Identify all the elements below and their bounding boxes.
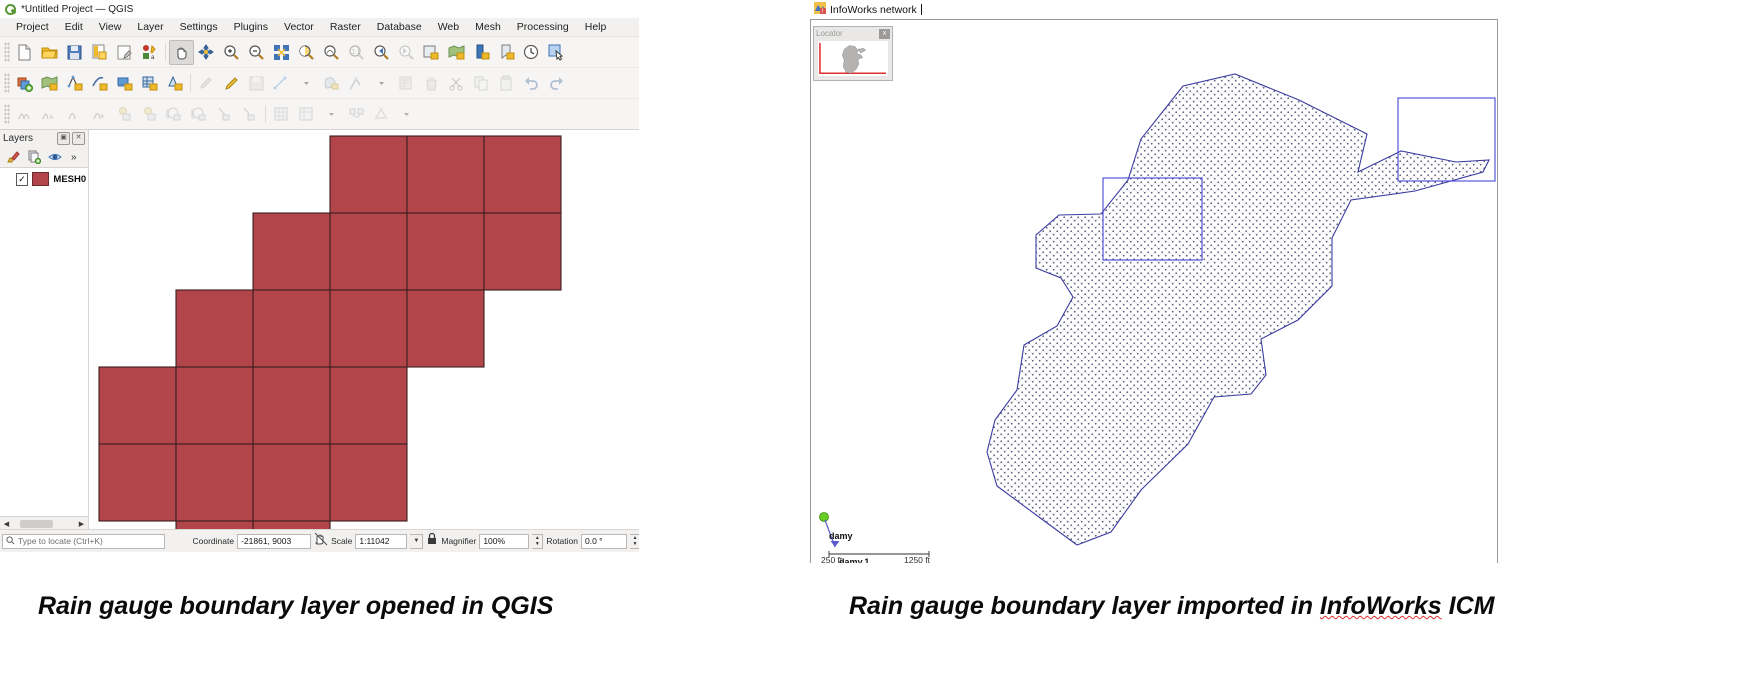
node-marker-damy[interactable] (820, 513, 829, 522)
pan-map-icon[interactable] (169, 40, 194, 65)
toolbar-dropdown-arrow-icon[interactable] (294, 71, 319, 96)
qgis-window-title: *Untitled Project — QGIS (21, 4, 133, 15)
icm-window-title: InfoWorks network (830, 4, 917, 16)
layers-panel-title: Layers (3, 133, 55, 144)
magnifier-label: Magnifier (441, 536, 476, 546)
svg-text:a: a (151, 55, 155, 61)
rotation-value[interactable]: 0.0 ° (581, 534, 627, 549)
layers-panel: Layers ▣ ✕ » ✓ MESH0! (0, 130, 89, 530)
rain-gauge-cell[interactable] (176, 367, 253, 444)
open-layer-styling-icon[interactable] (6, 150, 20, 164)
add-spatialite-icon[interactable] (137, 71, 162, 96)
menu-database[interactable]: Database (369, 20, 430, 34)
rain-gauge-cell[interactable] (484, 136, 561, 213)
add-delimited-text-icon[interactable] (87, 71, 112, 96)
menu-edit[interactable]: Edit (57, 20, 91, 34)
bookmarks-icon[interactable] (494, 40, 519, 65)
link-direction-arrow-icon (831, 541, 840, 547)
qgis-map-canvas[interactable] (89, 130, 639, 530)
add-polygon-feature-icon[interactable] (319, 71, 344, 96)
add-raster-layer-icon[interactable] (37, 71, 62, 96)
rain-gauge-polygon-grid (89, 130, 639, 530)
zoom-full-icon[interactable] (269, 40, 294, 65)
rain-gauge-cell[interactable] (330, 444, 407, 521)
rain-gauge-cell[interactable] (253, 444, 330, 521)
refresh-icon[interactable] (419, 40, 444, 65)
identify-icon[interactable] (544, 40, 569, 65)
field-calculator-icon[interactable] (294, 102, 319, 127)
toolbar-separator (190, 74, 191, 92)
rain-gauge-cell[interactable] (330, 290, 407, 367)
scale-label: Scale (331, 536, 352, 546)
temporal-controller-icon[interactable] (519, 40, 544, 65)
scalebar-right-label: 1250 ft (904, 555, 930, 563)
coordinate-value[interactable]: -21861, 9003 (237, 534, 311, 549)
svg-text:1:1: 1:1 (352, 49, 361, 55)
toolbar-dropdown-arrow-icon[interactable] (319, 102, 344, 127)
rain-gauge-cell[interactable] (330, 367, 407, 444)
magnifier-stepper[interactable]: ▲▼ (532, 534, 543, 549)
menu-view[interactable]: View (91, 20, 130, 34)
zoom-out-icon[interactable] (244, 40, 269, 65)
qgis-logo-icon (5, 4, 16, 15)
caption-right-suffix: ICM (1442, 592, 1495, 620)
toggle-extents-icon[interactable] (314, 532, 328, 551)
toolbar-grip[interactable] (4, 104, 10, 124)
caption-left: Rain gauge boundary layer opened in QGIS (38, 592, 553, 621)
measure-angle-icon[interactable] (62, 102, 87, 127)
close-panel-icon[interactable]: ✕ (72, 132, 85, 145)
lock-icon[interactable] (426, 532, 438, 550)
scroll-left-icon[interactable]: ◀ (0, 518, 13, 530)
new-project-icon[interactable] (12, 40, 37, 65)
caption-right: Rain gauge boundary layer imported in In… (849, 592, 1494, 621)
rotation-stepper[interactable]: ▲▼ (630, 534, 639, 549)
menu-layer[interactable]: Layer (129, 20, 171, 34)
scale-dropdown-icon[interactable]: ▼ (410, 534, 423, 549)
redo-icon[interactable] (544, 71, 569, 96)
locator-search-box[interactable]: Type to locate (Ctrl+K) (2, 534, 165, 549)
add-vector-layer-icon[interactable] (12, 71, 37, 96)
zoom-native-icon[interactable]: 1:1 (344, 40, 369, 65)
copy-features-icon[interactable] (469, 71, 494, 96)
menu-raster[interactable]: Raster (322, 20, 369, 34)
undo-icon[interactable] (519, 71, 544, 96)
mesh-tools-icon[interactable] (369, 102, 394, 127)
menu-settings[interactable]: Settings (172, 20, 226, 34)
qgis-titlebar: *Untitled Project — QGIS (0, 0, 639, 18)
rain-gauge-cell[interactable] (253, 290, 330, 367)
measure-area-icon[interactable] (37, 102, 62, 127)
scale-value[interactable]: 1:11042 (355, 534, 407, 549)
paste-features-icon[interactable] (494, 71, 519, 96)
rain-gauge-cell[interactable] (407, 213, 484, 290)
processing-toolbox-icon[interactable] (344, 102, 369, 127)
icm-titlebar: ! InfoWorks network (808, 0, 1518, 19)
select-by-expression-icon[interactable] (162, 102, 187, 127)
layers-list: ✓ MESH0! (0, 167, 88, 516)
modify-attributes-icon[interactable] (394, 71, 419, 96)
rain-gauge-cell[interactable] (253, 367, 330, 444)
rotation-label: Rotation (546, 536, 578, 546)
text-cursor (921, 4, 922, 15)
menu-project[interactable]: Project (8, 20, 57, 34)
search-icon (6, 532, 15, 550)
menu-vector[interactable]: Vector (276, 20, 322, 34)
add-wms-icon[interactable] (162, 71, 187, 96)
rain-gauge-cell[interactable] (484, 213, 561, 290)
select-features-icon[interactable] (112, 102, 137, 127)
scrollbar-thumb[interactable] (20, 520, 52, 528)
caption-right-misspelled-word: InfoWorks (1320, 592, 1442, 620)
node-label-damy-1: damy.1 (839, 557, 869, 563)
toolbar-dropdown-arrow-icon[interactable] (369, 71, 394, 96)
menu-web[interactable]: Web (430, 20, 467, 34)
layers-panel-more-button[interactable]: » (71, 152, 77, 163)
qgis-toolbar-row-3 (0, 99, 639, 130)
save-layer-edits-icon[interactable] (244, 71, 269, 96)
save-project-as-icon[interactable] (87, 40, 112, 65)
open-project-icon[interactable] (37, 40, 62, 65)
add-line-feature-icon[interactable] (269, 71, 294, 96)
deselect-all-icon[interactable] (237, 102, 262, 127)
vertex-tool-icon[interactable] (344, 71, 369, 96)
icm-document-area[interactable]: Locator x (810, 19, 1498, 563)
cut-features-icon[interactable] (444, 71, 469, 96)
magnifier-value[interactable]: 100% (479, 534, 529, 549)
menu-processing[interactable]: Processing (509, 20, 577, 34)
caption-right-prefix: Rain gauge boundary layer imported in (849, 592, 1320, 620)
zoom-last-icon[interactable] (369, 40, 394, 65)
new-3d-map-view-icon[interactable] (469, 40, 494, 65)
zoom-next-icon[interactable] (394, 40, 419, 65)
rain-gauge-cell[interactable] (176, 290, 253, 367)
save-project-icon[interactable] (62, 40, 87, 65)
layer-visibility-checkbox[interactable]: ✓ (16, 173, 28, 186)
node-label-damy: damy (829, 531, 853, 541)
open-attribute-table-icon[interactable] (269, 102, 294, 127)
qgis-window: *Untitled Project — QGIS Project Edit Vi… (0, 0, 639, 552)
rain-gauge-cell[interactable] (99, 367, 176, 444)
toolbar-grip[interactable] (4, 42, 10, 62)
new-map-view-icon[interactable] (444, 40, 469, 65)
rain-gauge-cell[interactable] (176, 444, 253, 521)
infoworks-network-icon: ! (814, 1, 826, 19)
toolbar-grip[interactable] (4, 73, 10, 93)
style-manager-icon[interactable]: a (137, 40, 162, 65)
zoom-to-layer-icon[interactable] (319, 40, 344, 65)
toolbar-separator (265, 105, 266, 123)
layer-row[interactable]: ✓ MESH0! (0, 171, 88, 187)
collapse-all-icon[interactable]: ▣ (57, 132, 70, 145)
coordinate-label: Coordinate (193, 536, 235, 546)
qgis-body: Layers ▣ ✕ » ✓ MESH0! (0, 130, 639, 530)
menu-mesh[interactable]: Mesh (467, 20, 509, 34)
toolbar-dropdown-arrow-icon[interactable] (394, 102, 419, 127)
qgis-toolbar-row-1: a 1:1 (0, 37, 639, 68)
scroll-right-icon[interactable]: ▶ (75, 518, 88, 530)
infoworks-icm-window: ! InfoWorks network Locator x (808, 0, 1518, 563)
delete-selected-icon[interactable] (419, 71, 444, 96)
rain-gauge-cell[interactable] (330, 213, 407, 290)
scalebar-left-label: 250 ft (821, 555, 842, 563)
icm-network-map[interactable] (811, 20, 1498, 562)
rain-gauge-cell[interactable] (407, 136, 484, 213)
mesh-boundary-polygon[interactable] (987, 74, 1489, 545)
add-group-icon[interactable] (27, 150, 41, 164)
zoom-to-selection-icon[interactable] (294, 40, 319, 65)
toolbar-separator (165, 43, 166, 61)
rain-gauge-cell[interactable] (99, 444, 176, 521)
menu-help[interactable]: Help (577, 20, 615, 34)
add-postgis-icon[interactable] (112, 71, 137, 96)
locator-placeholder-text: Type to locate (Ctrl+K) (18, 536, 103, 546)
layers-panel-toolbar: » (0, 147, 88, 167)
qgis-statusbar: Type to locate (Ctrl+K) Coordinate -2186… (0, 529, 639, 552)
deselect-icon[interactable] (212, 102, 237, 127)
menu-plugins[interactable]: Plugins (226, 20, 276, 34)
scrollbar-track[interactable] (13, 518, 75, 530)
new-print-layout-icon[interactable] (112, 40, 137, 65)
select-by-value-icon[interactable] (137, 102, 162, 127)
select-by-form-icon[interactable] (187, 102, 212, 127)
rain-gauge-cell[interactable] (253, 213, 330, 290)
rain-gauge-cell[interactable] (330, 136, 407, 213)
current-edits-icon[interactable] (194, 71, 219, 96)
qgis-toolbar-row-2 (0, 68, 639, 99)
layers-panel-header: Layers ▣ ✕ (0, 130, 88, 147)
layers-horizontal-scrollbar[interactable]: ◀ ▶ (0, 516, 88, 530)
zoom-in-icon[interactable] (219, 40, 244, 65)
measure-line-icon[interactable] (12, 102, 37, 127)
add-mesh-layer-icon[interactable] (62, 71, 87, 96)
layer-name-label: MESH0! (53, 174, 86, 185)
manage-visibility-icon[interactable] (48, 150, 62, 164)
rain-gauge-cell[interactable] (407, 290, 484, 367)
pan-to-selection-icon[interactable] (194, 40, 219, 65)
qgis-menubar: Project Edit View Layer Settings Plugins… (0, 18, 639, 37)
toggle-editing-icon[interactable] (219, 71, 244, 96)
layer-symbol-swatch (32, 172, 49, 186)
measure-bearing-icon[interactable] (87, 102, 112, 127)
